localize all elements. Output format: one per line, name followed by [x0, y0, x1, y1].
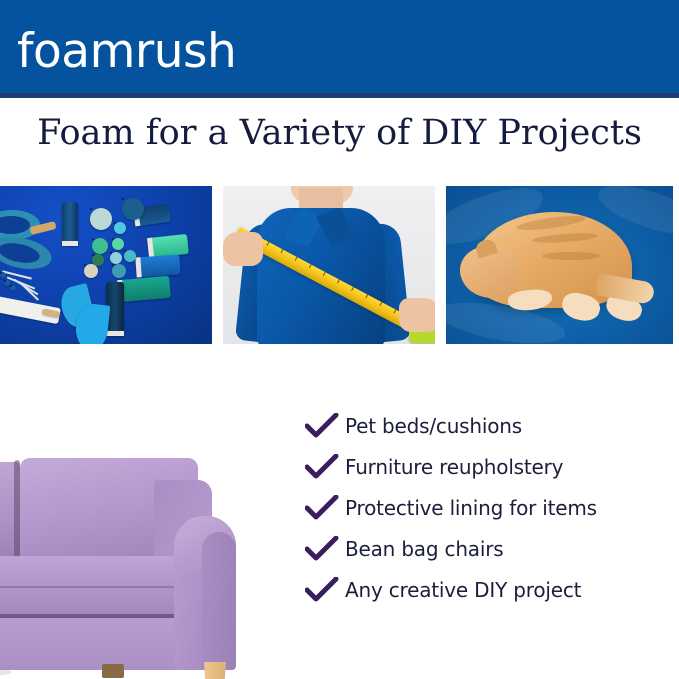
button-icon: [92, 238, 108, 254]
left-hand: [223, 232, 263, 266]
cat-on-cushion-photo: [446, 186, 673, 344]
list-item: Protective lining for items: [305, 487, 679, 528]
feature-list: Pet beds/cushions Furniture reupholstery…: [305, 405, 679, 610]
measuring-tape-photo: [223, 186, 435, 344]
button-icon: [122, 198, 144, 220]
list-item: Pet beds/cushions: [305, 405, 679, 446]
list-item-label: Any creative DIY project: [345, 578, 581, 602]
button-icon: [114, 222, 126, 234]
list-item-label: Furniture reupholstery: [345, 455, 563, 479]
list-item: Bean bag chairs: [305, 528, 679, 569]
check-icon: [305, 495, 345, 521]
button-icon: [124, 250, 136, 262]
product-infographic: foamrush Foam for a Variety of DIY Proje…: [0, 0, 679, 679]
list-item-label: Pet beds/cushions: [345, 414, 522, 438]
sofa-leg-front: [204, 662, 226, 679]
check-icon: [305, 454, 345, 480]
thread-spool: [62, 202, 78, 246]
page-title: Foam for a Variety of DIY Projects: [0, 104, 679, 162]
check-icon: [305, 413, 345, 439]
button-icon: [90, 208, 112, 230]
right-hand: [399, 298, 435, 332]
foamrush-logo: foamrush: [17, 26, 236, 78]
sofa-arm-front-panel: [202, 532, 236, 670]
sofa-leg-back: [102, 664, 124, 678]
list-item-label: Protective lining for items: [345, 496, 597, 520]
check-icon: [305, 536, 345, 562]
check-icon: [305, 577, 345, 603]
sewing-supplies-photo: [0, 186, 212, 344]
button-icon: [112, 238, 124, 250]
photo-strip: [0, 186, 679, 344]
button-icon: [112, 264, 126, 278]
button-icon: [84, 264, 98, 278]
list-item: Furniture reupholstery: [305, 446, 679, 487]
button-icon: [110, 252, 122, 264]
brand-banner: foamrush: [0, 0, 679, 93]
list-item-label: Bean bag chairs: [345, 537, 503, 561]
thread-spool: [117, 276, 171, 302]
banner-underline: [0, 93, 679, 98]
thread-spool: [135, 254, 180, 277]
list-item: Any creative DIY project: [305, 569, 679, 610]
cat-stripe: [542, 252, 600, 260]
purple-sofa-illustration: [0, 440, 290, 679]
